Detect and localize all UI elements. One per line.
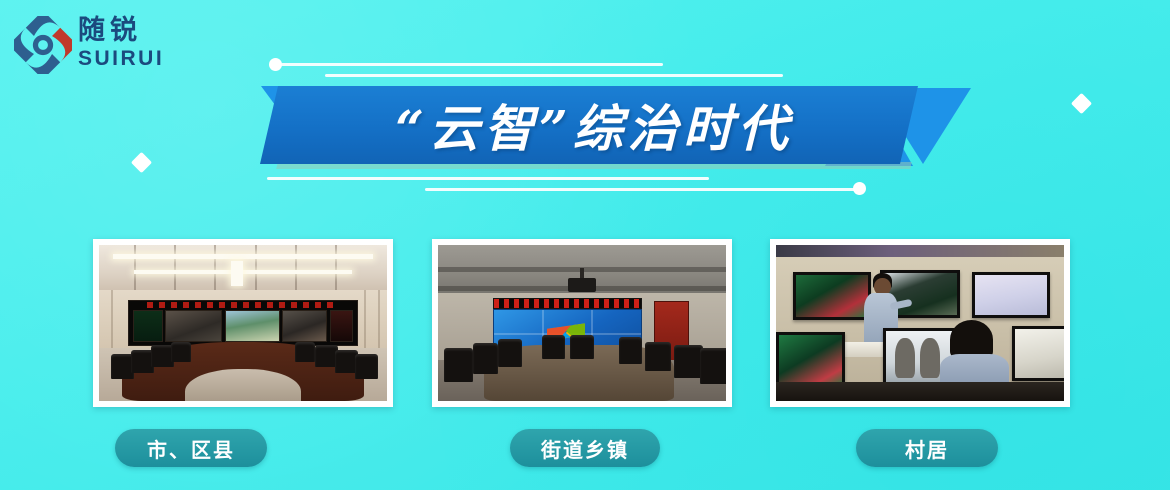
photo-frame — [432, 239, 732, 407]
card-label-text: 街道乡镇 — [541, 434, 629, 463]
chair — [295, 342, 315, 362]
card-city-district[interactable]: 市、区县 — [93, 239, 393, 407]
chair — [444, 348, 473, 382]
page-title: “云智”综治时代 — [269, 86, 919, 164]
chair — [473, 343, 499, 374]
circle-dot-icon-top — [269, 58, 282, 71]
desk-front-edge — [776, 382, 1064, 401]
card-street-township[interactable]: 街道乡镇 — [432, 239, 732, 407]
conference-room-video-wall-photo — [99, 245, 387, 401]
video-tile — [282, 310, 328, 341]
led-banner-text — [147, 302, 339, 308]
video-wall — [128, 300, 358, 347]
projector — [568, 278, 597, 292]
light-strip — [113, 254, 372, 259]
video-tile — [133, 310, 163, 341]
desk-monitor — [1012, 326, 1064, 381]
video-tile — [165, 310, 222, 341]
brand-logo[interactable]: 随锐 SUIRUI — [14, 14, 204, 76]
card-row: 市、区县 — [0, 239, 1170, 479]
card-village[interactable]: 村居 — [770, 239, 1070, 407]
chair — [542, 335, 565, 358]
card-label-street-township[interactable]: 街道乡镇 — [510, 429, 660, 467]
light-strip — [134, 270, 353, 274]
upper-wall-band — [776, 245, 1064, 257]
card-label-text: 市、区县 — [147, 434, 235, 463]
photo-frame — [770, 239, 1070, 407]
brand-name-en: SUIRUI — [78, 47, 202, 71]
chair — [674, 345, 703, 378]
slide-canvas: 随锐 SUIRUI “云智”综治时代 — [0, 0, 1170, 490]
chair — [171, 342, 191, 362]
diamond-decor-icon-right — [1071, 93, 1092, 114]
card-label-city-district[interactable]: 市、区县 — [115, 429, 267, 467]
led-banner-text — [493, 298, 643, 309]
police-monitoring-center-photo — [776, 245, 1064, 401]
decor-line-top-2 — [325, 74, 783, 77]
brand-wordmark: 随锐 SUIRUI — [78, 16, 202, 74]
card-label-village[interactable]: 村居 — [856, 429, 998, 467]
chair — [619, 337, 642, 364]
chair — [570, 335, 593, 358]
desk-monitor — [776, 332, 845, 388]
card-label-text: 村居 — [905, 434, 949, 463]
chair — [498, 339, 521, 367]
meeting-room-blue-display-wall-photo — [438, 245, 726, 401]
suirui-pinwheel-logo-icon — [14, 16, 72, 74]
chair — [645, 342, 671, 372]
decor-line-bottom-1 — [267, 177, 709, 180]
video-tile — [330, 310, 353, 341]
chair — [355, 354, 378, 379]
photo-frame — [93, 239, 393, 407]
brand-name-cn: 随锐 — [78, 16, 202, 46]
video-tile — [225, 310, 280, 341]
decor-line-bottom-2 — [425, 188, 865, 191]
light-strip — [231, 261, 243, 286]
diamond-decor-icon-left — [131, 152, 152, 173]
table-inner — [185, 369, 301, 401]
circle-dot-icon-bottom — [853, 182, 866, 195]
wall-monitor — [793, 272, 871, 320]
title-banner: “云智”综治时代 — [255, 52, 955, 198]
decor-line-top-1 — [281, 63, 663, 66]
wall-monitor — [972, 272, 1050, 319]
chair — [700, 348, 726, 384]
